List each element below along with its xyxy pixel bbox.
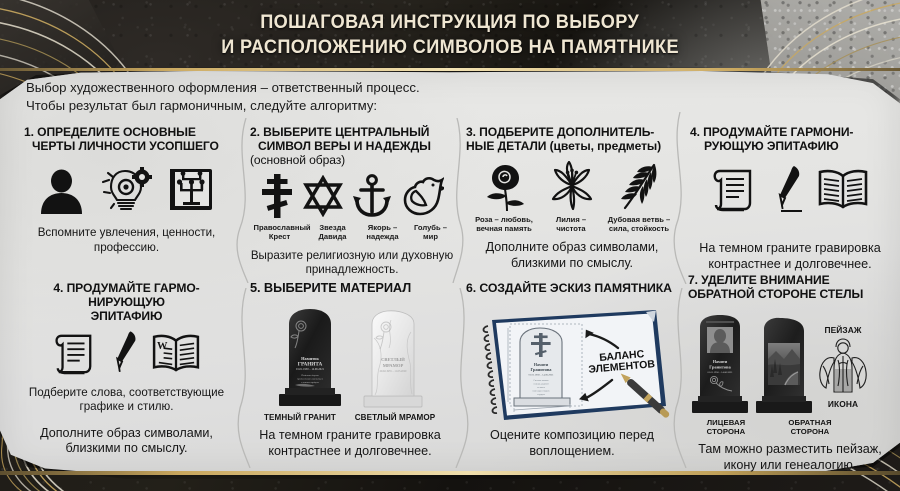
step-2-title-line-2: СИМВОЛ ВЕРЫ И НАДЕЖДЫ <box>250 139 454 153</box>
header-title-line-1: ПОШАГОВАЯ ИНСТРУКЦИЯ ПО ВЫБОРУ <box>261 10 640 35</box>
svg-text:навеки, родной: навеки, родной <box>534 383 550 386</box>
step-4-bottom-title-line-3: ЭПИТАФИЮ <box>24 309 229 323</box>
anchor-icon <box>352 174 392 218</box>
step-4-bottom-title-line-2: НИРУЮЩУЮ <box>24 295 229 309</box>
step-4-bottom-caption-2: Дополните образ символами, близкими по с… <box>24 426 229 457</box>
lily-icon <box>545 161 599 211</box>
step-5-title: 5. ВЫБЕРИТЕ МАТЕРИАЛ <box>250 281 450 295</box>
step-5-block: 5. ВЫБЕРИТЕ МАТЕРИАЛ Намяток ГРА <box>250 281 450 459</box>
svg-text:СВЕТЛЫЙ: СВЕТЛЫЙ <box>381 357 405 362</box>
svg-text:в наших сердцах: в наших сердцах <box>301 381 319 384</box>
svg-text:Намяток: Намяток <box>301 356 319 361</box>
light-marble-monument: СВЕТЛЫЙ МРАМОР 20.02.1955 – 11.03.2020 <box>361 308 425 408</box>
step-4-top-caption: На темном граните гравировка контрастнее… <box>690 241 890 272</box>
dark-granite-monument: Намяток ГРАНИТА 01.01.1950 – 14.06.2021 … <box>275 304 345 408</box>
step-2-block: 2. ВЫБЕРИТЕ ЦЕНТРАЛЬНЫЙ СИМВОЛ ВЕРЫ И НА… <box>250 125 454 277</box>
step-5-caption: На темном граните гравировка контрастнее… <box>250 428 450 459</box>
step-4-top-block: 4. ПРОДУМАЙТЕ ГАРМОНИ- РУЮЩУЮ ЭПИТАФИЮ <box>690 125 890 272</box>
open-book-icon <box>817 168 869 210</box>
svg-text:навсегда в наших: навсегда в наших <box>532 391 550 393</box>
step-7-block: 7. УДЕЛИТЕ ВНИМАНИЕ ОБРАТНОЙ СТОРОНЕ СТЕ… <box>688 273 892 473</box>
infographic-header: ПОШАГОВАЯ ИНСТРУКЦИЯ ПО ВЫБОРУ И РАСПОЛО… <box>0 0 900 70</box>
star-of-david-icon <box>302 175 344 217</box>
label-front-side: ЛИЦЕВАЯ СТОРОНА <box>688 418 764 436</box>
step-6-title: 6. СОЗДАЙТЕ ЭСКИЗ ПАМЯТНИКА <box>466 281 678 295</box>
monument-back-side <box>754 315 814 415</box>
svg-text:ГРАНИТА: ГРАНИТА <box>298 362 323 368</box>
orthodox-cross-icon <box>260 174 294 218</box>
step-7-title-line-2: ОБРАТНОЙ СТОРОНЕ СТЕЛЫ <box>688 287 892 301</box>
step-2-title-line-1: 2. ВЫБЕРИТЕ ЦЕНТРАЛЬНЫЙ <box>250 125 454 139</box>
step-3-title-line-1: 3. ПОДБЕРИТЕ ДОПОЛНИТЕЛЬ- <box>466 125 678 139</box>
step-2-title: 2. ВЫБЕРИТЕ ЦЕНТРАЛЬНЫЙ СИМВОЛ ВЕРЫ И НА… <box>250 125 454 168</box>
family-tree-book-icon <box>168 167 214 214</box>
step-3-title: 3. ПОДБЕРИТЕ ДОПОЛНИТЕЛЬ- НЫЕ ДЕТАЛИ (цв… <box>466 125 678 153</box>
step-1-title: 1. ОПРЕДЕЛИТЕ ОСНОВНЫЕ ЧЕРТЫ ЛИЧНОСТИ УС… <box>24 125 229 153</box>
step-3-caption: Дополните образ символами, близкими по с… <box>466 240 678 271</box>
svg-text:МРАМОР: МРАМОР <box>383 363 404 368</box>
label-icon: ИКОНА <box>828 399 858 409</box>
rose-icon <box>481 161 531 211</box>
step-4-top-title-line-2: РУЮЩУЮ ЭПИТАФИЮ <box>690 139 890 153</box>
oak-branch-icon <box>613 161 663 211</box>
step-7-title: 7. УДЕЛИТЕ ВНИМАНИЕ ОБРАТНОЙ СТОРОНЕ СТЕ… <box>688 273 892 301</box>
person-silhouette-icon <box>39 168 84 214</box>
label-landscape: ПЕЙЗАЖ <box>824 325 861 335</box>
lightbulb-gear-icon <box>100 166 152 214</box>
open-book-w-icon: W <box>151 333 201 373</box>
svg-text:Гранитова: Гранитова <box>709 365 731 370</box>
angel-icon-engraving <box>818 336 868 398</box>
step-1-title-line-1: 1. ОПРЕДЕЛИТЕ ОСНОВНЫЕ <box>24 125 229 139</box>
step-6-caption: Оцените композицию перед воплощением. <box>466 428 678 459</box>
step-4-bottom-block: 4. ПРОДУМАЙТЕ ГАРМО- НИРУЮЩУЮ ЭПИТАФИЮ <box>24 281 229 457</box>
step-1-title-line-2: ЧЕРТЫ ЛИЧНОСТИ УСОПШЕГО <box>24 139 229 153</box>
step-2-caption: Выразите религиозную или духовную принад… <box>250 249 454 277</box>
step-2-title-line-3: (основной образ) <box>250 153 454 167</box>
svg-text:01.01.1950 – 14.06.2021: 01.01.1950 – 14.06.2021 <box>529 374 555 377</box>
symbol-label-lily: Лилия – чистота <box>545 215 597 233</box>
label-light-marble: СВЕТЛЫЙ МРАМОР <box>349 413 441 422</box>
intro-line-1: Выбор художественного оформления – ответ… <box>26 79 546 97</box>
sketchbook-illustration: Намяти Гранитова 01.01.1950 – 14.06.2021… <box>470 302 674 424</box>
scroll-icon <box>711 166 755 212</box>
svg-text:человек: человек <box>537 387 546 389</box>
label-back-side: ОБРАТНАЯ СТОРОНА <box>768 418 852 436</box>
fountain-pen-icon <box>107 330 139 376</box>
svg-text:01.01.1950 – 14.06.2021: 01.01.1950 – 14.06.2021 <box>708 371 734 374</box>
svg-text:сердцах: сердцах <box>537 394 546 396</box>
intro-text: Выбор художественного оформления – ответ… <box>26 79 546 114</box>
svg-text:Гранитова: Гранитова <box>531 367 553 372</box>
header-title-line-2: И РАСПОЛОЖЕНИЮ СИМВОЛОВ НА ПАМЯТНИКЕ <box>221 35 679 60</box>
symbol-label-dove: Голубь – мир <box>411 223 451 241</box>
scroll-icon <box>53 331 95 375</box>
step-7-caption: Там можно разместить пейзаж, икону или г… <box>688 442 892 473</box>
svg-text:Светлая память: Светлая память <box>533 380 548 382</box>
step-3-title-line-2: НЫЕ ДЕТАЛИ (цветы, предметы) <box>466 139 678 153</box>
intro-line-2: Чтобы результат был гармоничным, следуйт… <box>26 97 546 115</box>
step-1-block: 1. ОПРЕДЕЛИТЕ ОСНОВНЫЕ ЧЕРТЫ ЛИЧНОСТИ УС… <box>24 125 229 255</box>
svg-text:01.01.1950 – 14.06.2021: 01.01.1950 – 14.06.2021 <box>296 368 325 371</box>
step-4-bottom-caption: Подберите слова, соответствующие графике… <box>24 386 229 414</box>
step-4-bottom-title: 4. ПРОДУМАЙТЕ ГАРМО- НИРУЮЩУЮ ЭПИТАФИЮ <box>24 281 229 324</box>
label-dark-granite: ТЕМНЫЙ ГРАНИТ <box>259 413 341 422</box>
fountain-pen-icon <box>769 165 803 213</box>
step-3-block: 3. ПОДБЕРИТЕ ДОПОЛНИТЕЛЬ- НЫЕ ДЕТАЛИ (цв… <box>466 125 678 271</box>
symbol-label-oak: Дубовая ветвь – сила, стойкость <box>605 215 673 233</box>
dove-icon <box>400 175 444 217</box>
step-4-top-title: 4. ПРОДУМАЙТЕ ГАРМОНИ- РУЮЩУЮ ЭПИТАФИЮ <box>690 125 890 153</box>
svg-text:Намяти: Намяти <box>713 359 728 364</box>
symbol-label-anchor: Якорь – надежда <box>360 223 406 241</box>
step-6-block: 6. СОЗДАЙТЕ ЭСКИЗ ПАМЯТНИКА <box>466 281 678 459</box>
symbol-label-rose: Роза – любовь, вечная память <box>471 215 537 233</box>
step-1-caption: Вспомните увлечения, ценности, профессию… <box>24 226 229 254</box>
step-7-title-line-1: 7. УДЕЛИТЕ ВНИМАНИЕ <box>688 273 892 287</box>
step-4-bottom-title-line-1: 4. ПРОДУМАЙТЕ ГАРМО- <box>24 281 229 295</box>
symbol-label-cross: Православный Крест <box>254 223 306 241</box>
monument-front-side: Намяти Гранитова 01.01.1950 – 14.06.2021 <box>690 311 750 415</box>
step-4-top-title-line-1: 4. ПРОДУМАЙТЕ ГАРМОНИ- <box>690 125 890 139</box>
svg-text:W: W <box>156 341 167 352</box>
symbol-label-star: Звезда Давида <box>311 223 355 241</box>
svg-text:20.02.1955 – 11.03.2020: 20.02.1955 – 11.03.2020 <box>380 370 407 373</box>
